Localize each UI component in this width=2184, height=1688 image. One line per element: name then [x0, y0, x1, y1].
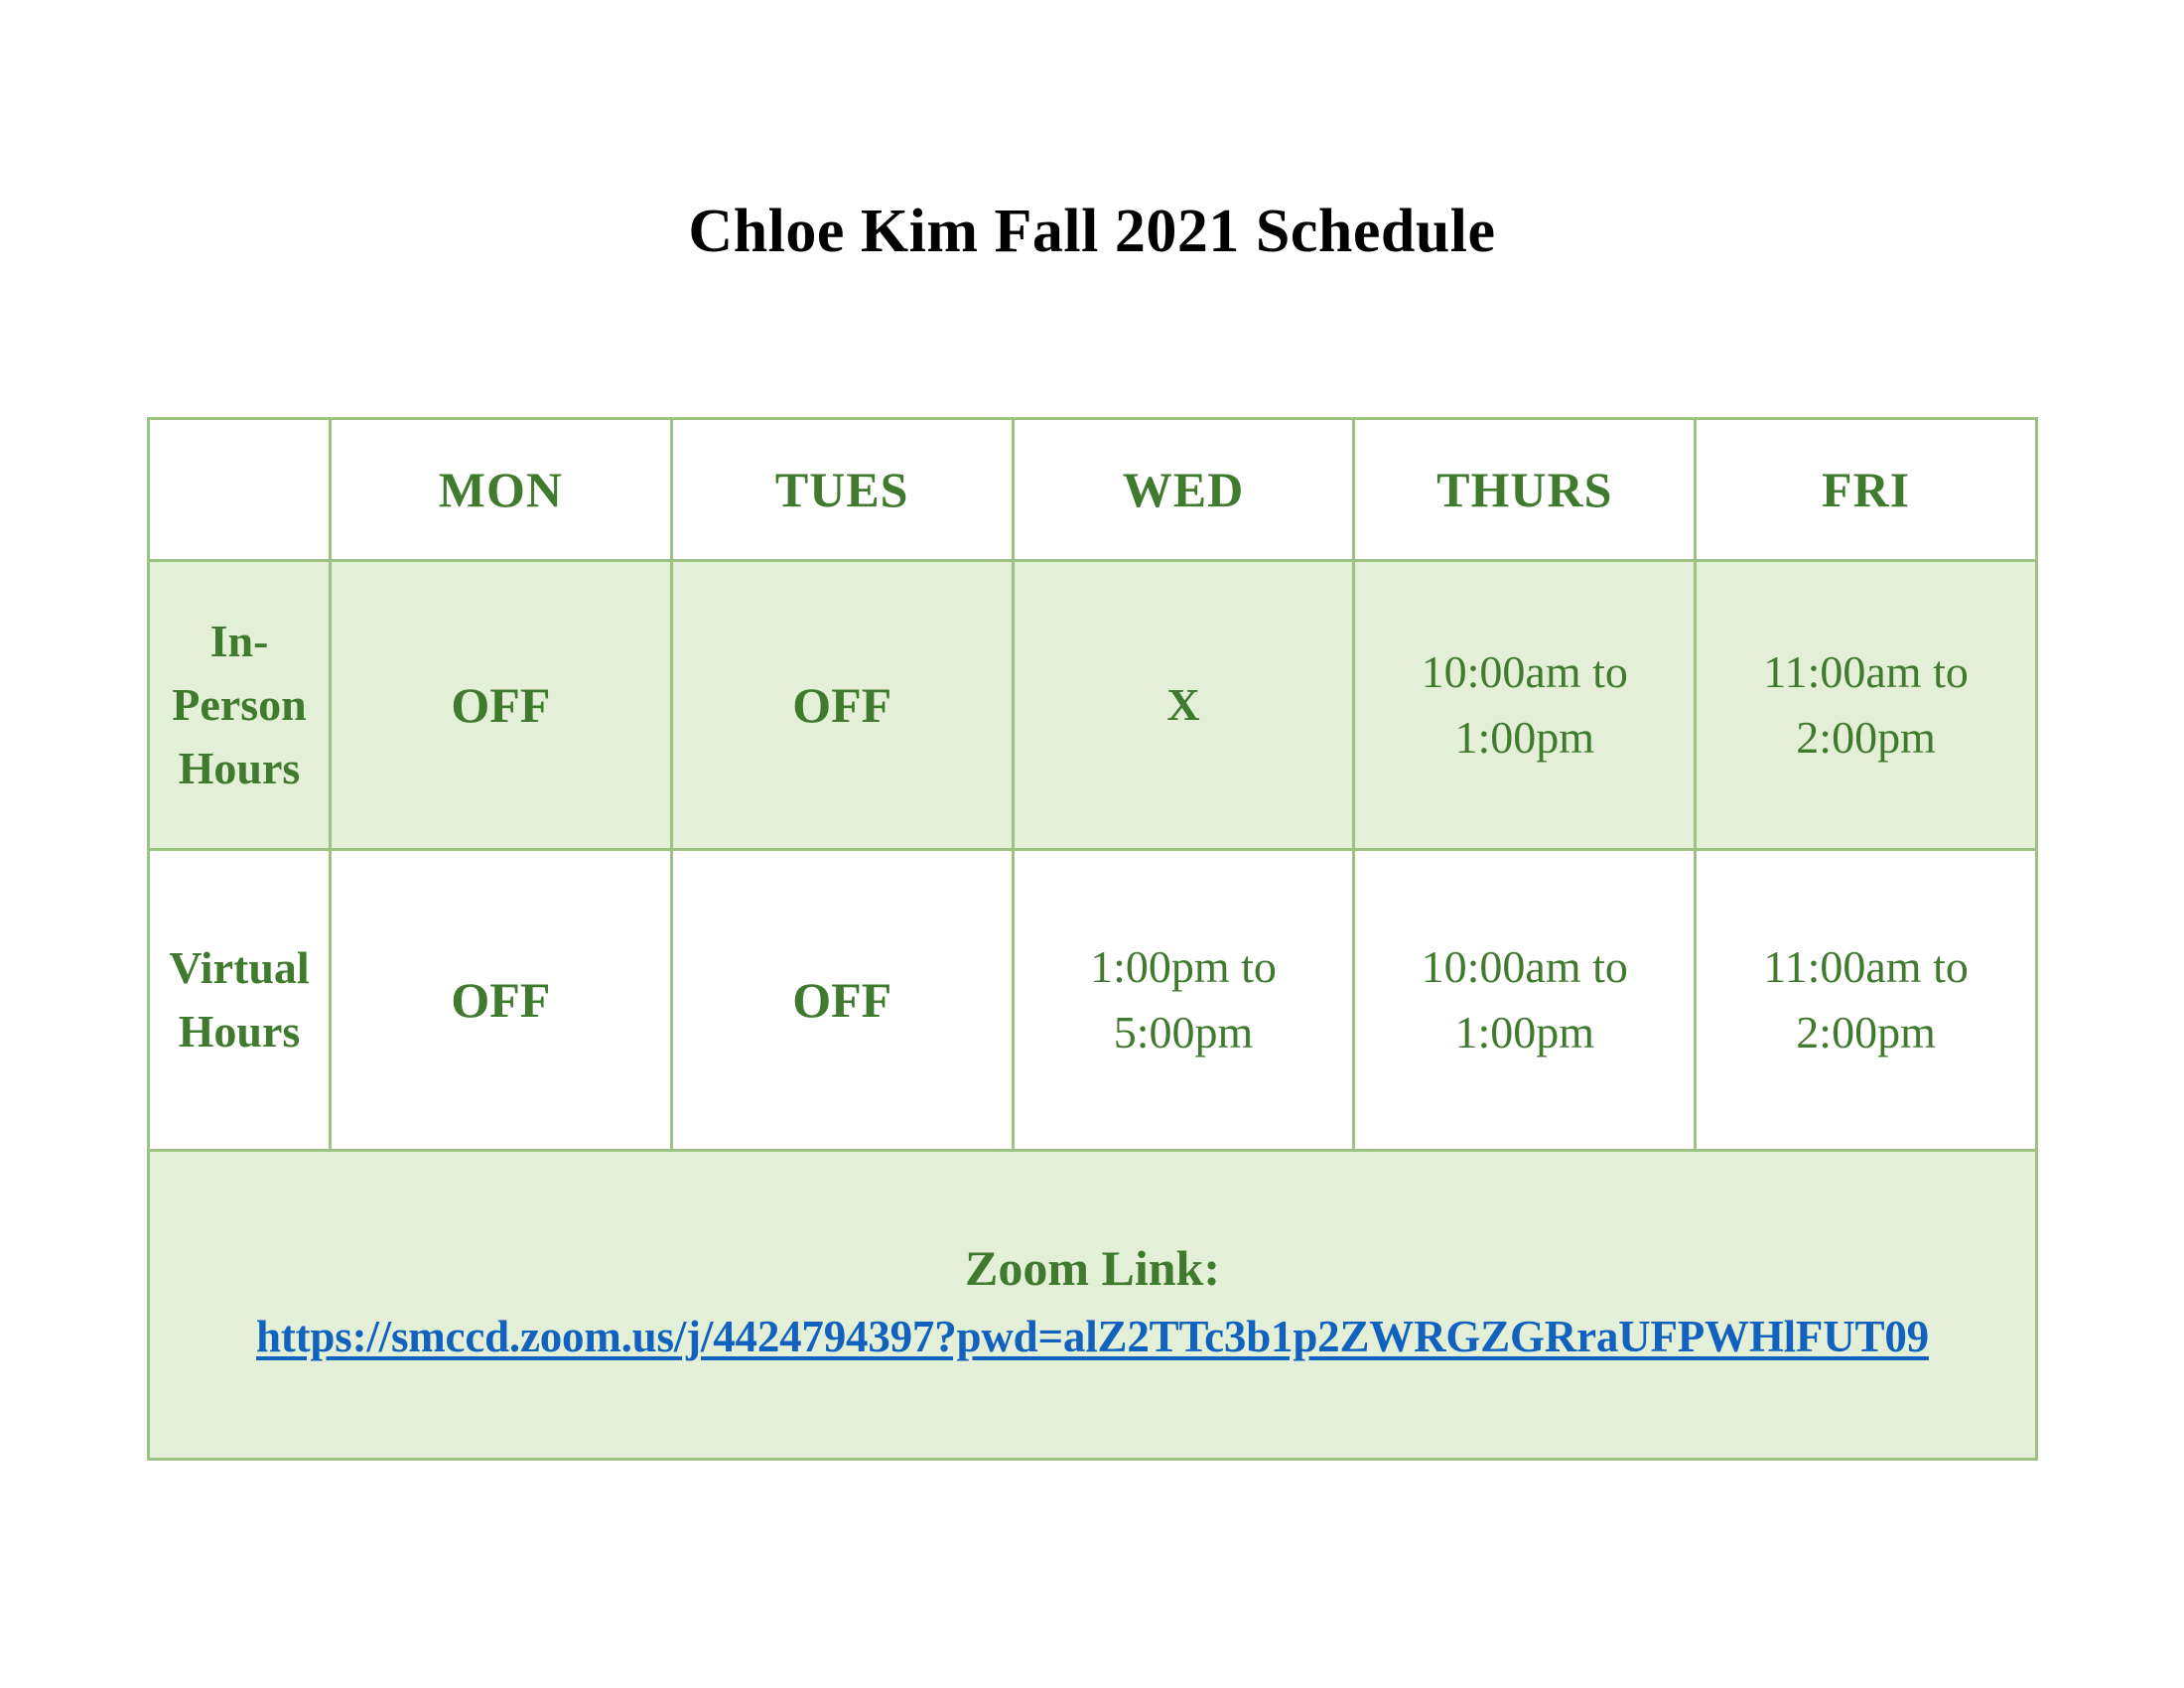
cell-virtual-mon: OFF	[331, 850, 672, 1151]
column-header-wed: WED	[1013, 419, 1354, 561]
page-title: Chloe Kim Fall 2021 Schedule	[0, 195, 2184, 268]
schedule-document-page: Chloe Kim Fall 2021 Schedule MON TUES WE…	[0, 0, 2184, 1688]
table-row-in-person-hours: In-Person Hours OFF OFF X 10:00am to 1:0…	[149, 561, 2037, 850]
column-header-fri: FRI	[1696, 419, 2037, 561]
row-label-in-person-hours: In-Person Hours	[149, 561, 331, 850]
row-label-virtual-hours: Virtual Hours	[149, 850, 331, 1151]
table-header-row: MON TUES WED THURS FRI	[149, 419, 2037, 561]
cell-in-person-tues: OFF	[671, 561, 1013, 850]
schedule-table: MON TUES WED THURS FRI In-Person Hours O…	[147, 417, 2038, 1461]
cell-in-person-fri: 11:00am to 2:00pm	[1696, 561, 2037, 850]
column-header-tues: TUES	[671, 419, 1013, 561]
zoom-link-label: Zoom Link:	[170, 1235, 2015, 1301]
table-row-virtual-hours: Virtual Hours OFF OFF 1:00pm to 5:00pm 1…	[149, 850, 2037, 1151]
header-corner-cell	[149, 419, 331, 561]
cell-in-person-wed: X	[1013, 561, 1354, 850]
cell-virtual-tues: OFF	[671, 850, 1013, 1151]
cell-in-person-mon: OFF	[331, 561, 672, 850]
zoom-meeting-link[interactable]: https://smccd.zoom.us/j/4424794397?pwd=a…	[170, 1305, 2015, 1368]
column-header-mon: MON	[331, 419, 672, 561]
zoom-link-cell: Zoom Link: https://smccd.zoom.us/j/44247…	[149, 1151, 2037, 1460]
cell-virtual-fri: 11:00am to 2:00pm	[1696, 850, 2037, 1151]
table-row-zoom-link: Zoom Link: https://smccd.zoom.us/j/44247…	[149, 1151, 2037, 1460]
cell-virtual-thurs: 10:00am to 1:00pm	[1354, 850, 1696, 1151]
cell-virtual-wed: 1:00pm to 5:00pm	[1013, 850, 1354, 1151]
cell-in-person-thurs: 10:00am to 1:00pm	[1354, 561, 1696, 850]
column-header-thurs: THURS	[1354, 419, 1696, 561]
